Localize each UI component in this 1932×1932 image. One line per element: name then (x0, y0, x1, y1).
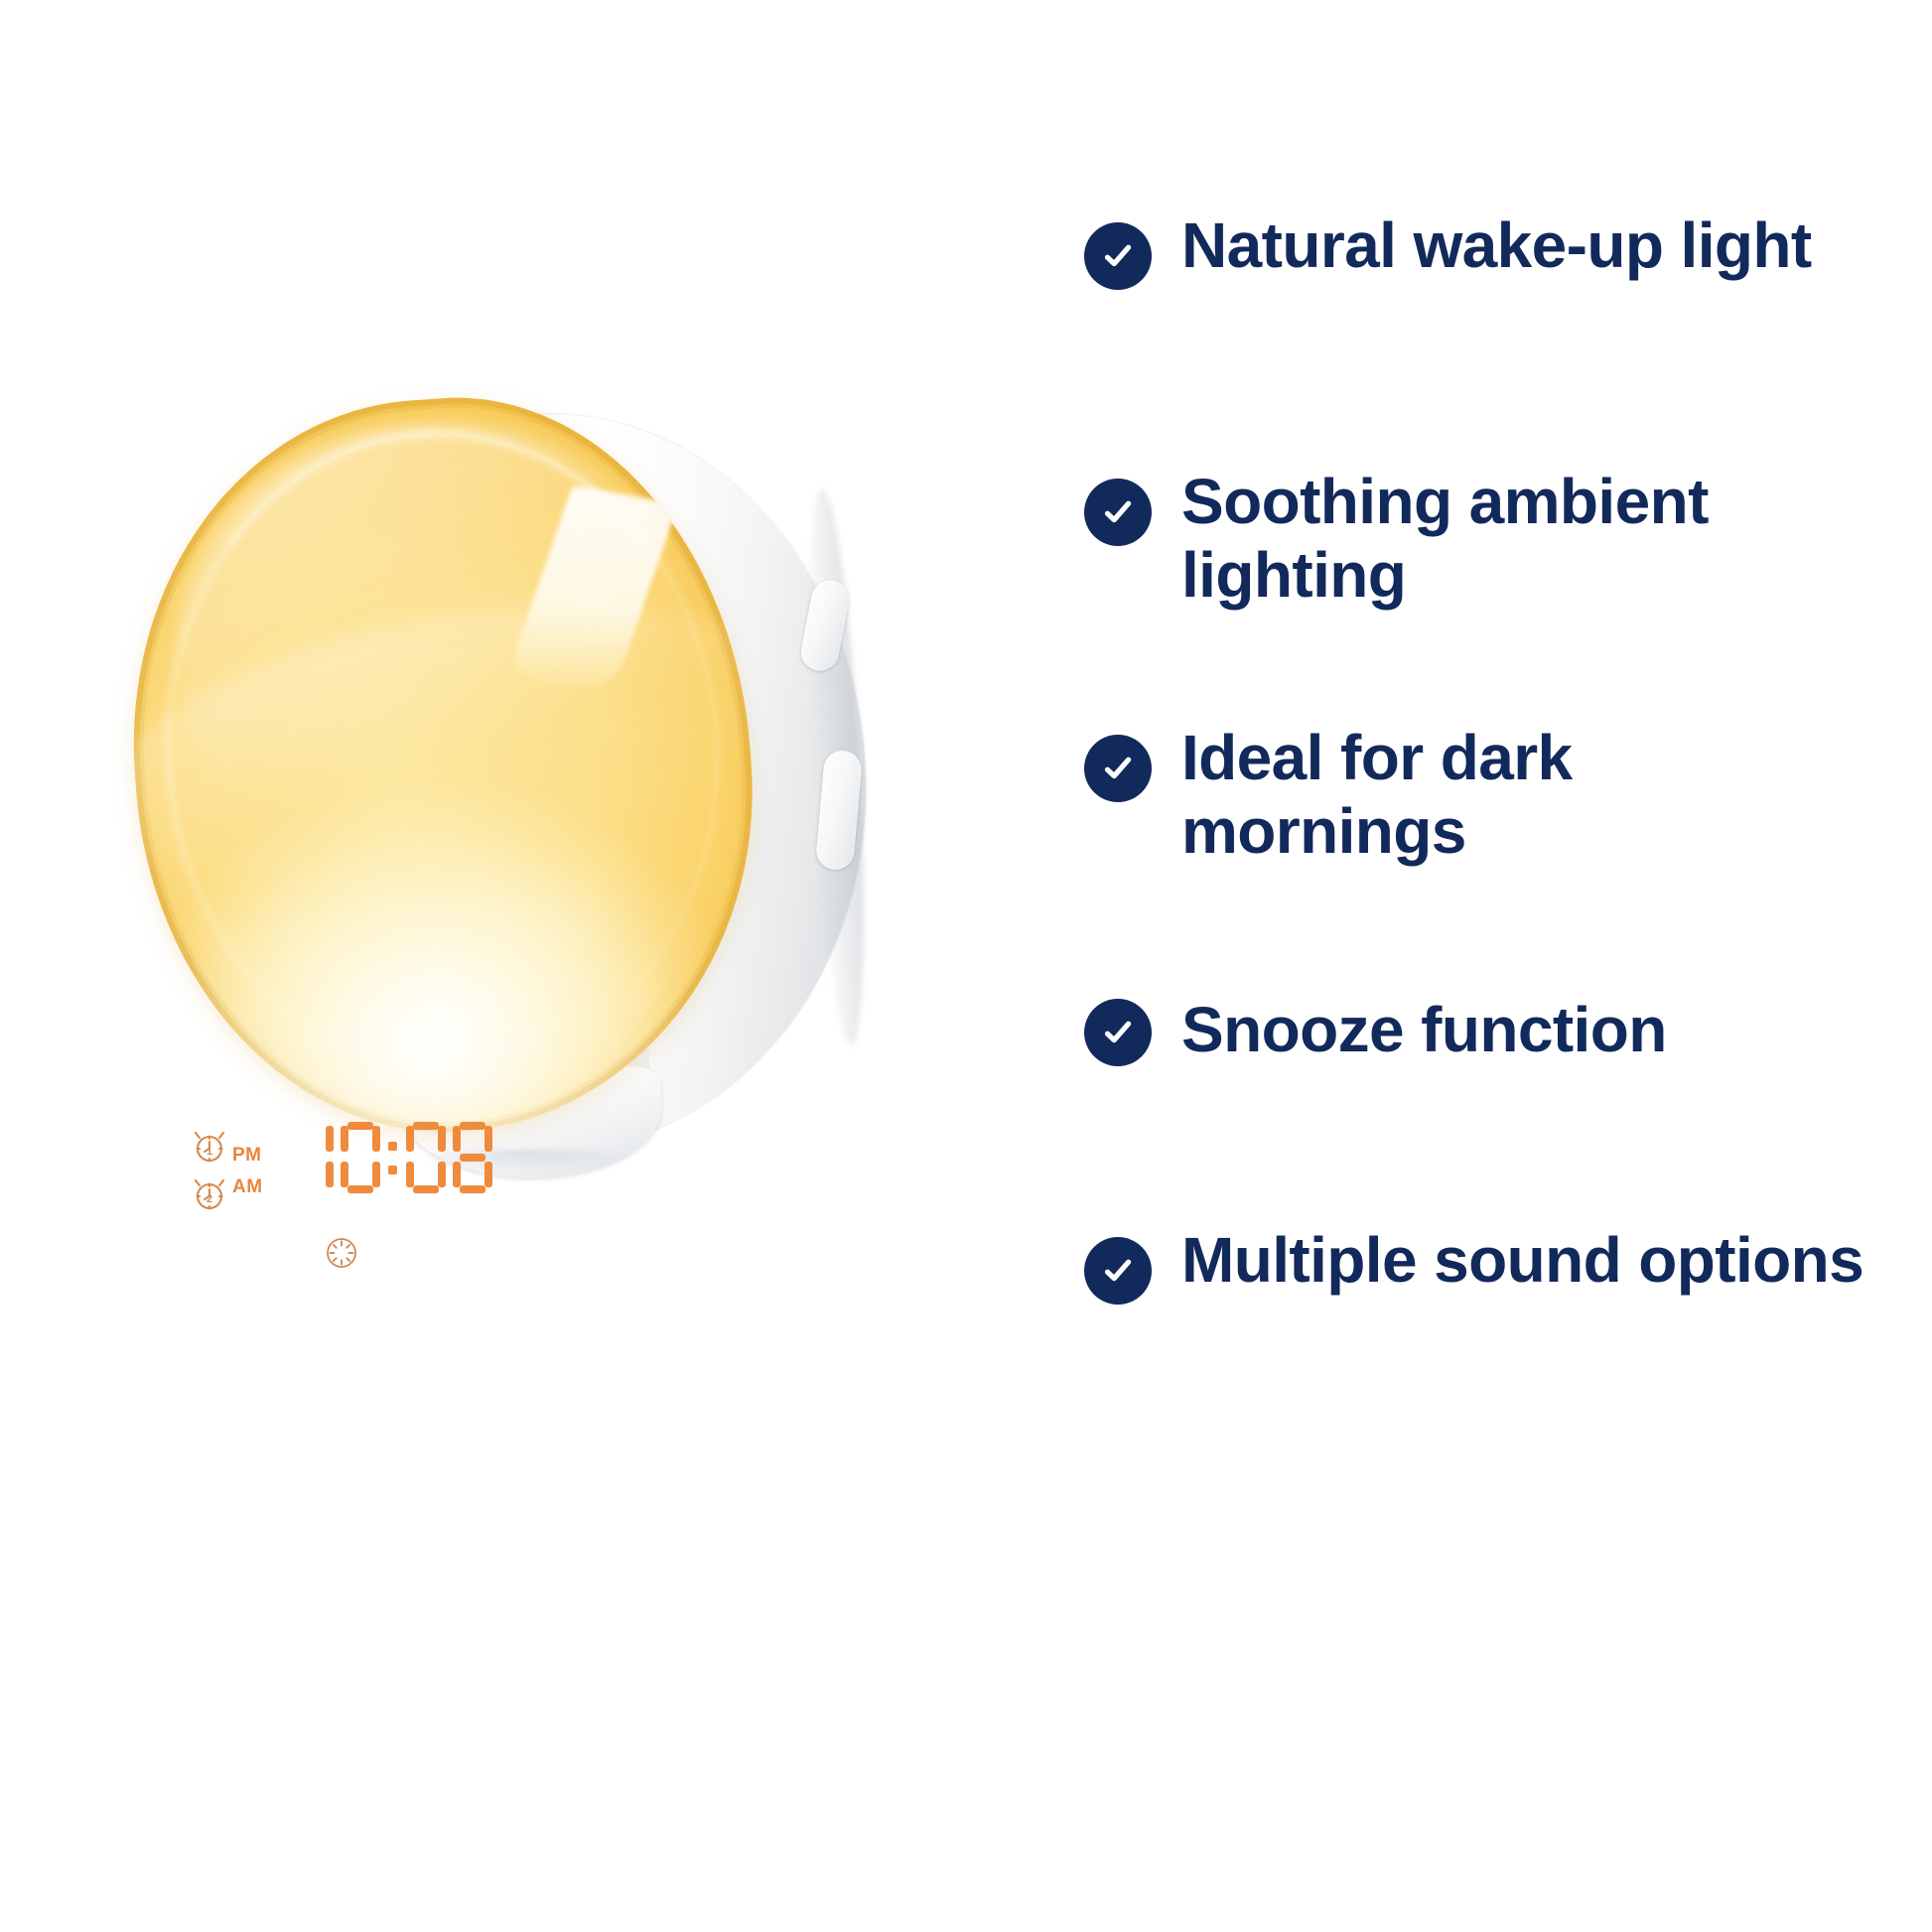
clock-digit-2 (341, 1122, 380, 1193)
alarm-2-row: 2 AM (191, 1175, 286, 1223)
alarm-clock-2-icon: 2 (191, 1175, 228, 1213)
sun-brightness-icon (322, 1233, 361, 1273)
svg-text:1: 1 (207, 1146, 212, 1158)
led-clock-display: 1 PM 2 (191, 1122, 479, 1301)
feature-label: Snooze function (1181, 993, 1667, 1066)
check-icon (1084, 735, 1152, 802)
alarm-1-row: 1 PM (191, 1128, 286, 1175)
feature-item-natural-wake-up-light: Natural wake-up light (1084, 208, 1888, 290)
check-icon (1084, 222, 1152, 290)
feature-item-multiple-sound-options: Multiple sound options (1084, 1223, 1888, 1305)
product-feature-graphic: 1 PM 2 (0, 0, 1932, 1932)
clock-digit-4 (453, 1122, 492, 1193)
sunrise-alarm-clock-product-image: 1 PM 2 (60, 387, 913, 1211)
check-icon (1084, 999, 1152, 1066)
clock-digit-1 (294, 1122, 334, 1193)
alarm-clock-1-icon: 1 (191, 1128, 228, 1166)
alarm-2-meridiem: AM (232, 1177, 263, 1196)
clock-digit-3 (406, 1122, 446, 1193)
feature-item-snooze-function: Snooze function (1084, 993, 1888, 1066)
alarm-indicators: 1 PM 2 (191, 1128, 286, 1223)
feature-label: Ideal for dark mornings (1181, 721, 1866, 868)
feature-item-soothing-ambient-lighting: Soothing ambient lighting (1084, 465, 1888, 612)
feature-label: Soothing ambient lighting (1181, 465, 1866, 612)
feature-label: Multiple sound options (1181, 1223, 1863, 1297)
feature-label: Natural wake-up light (1181, 208, 1812, 282)
feature-item-ideal-for-dark-mornings: Ideal for dark mornings (1084, 721, 1888, 868)
check-icon (1084, 1237, 1152, 1305)
check-icon (1084, 479, 1152, 546)
clock-colon (387, 1122, 399, 1193)
alarm-1-meridiem: PM (232, 1146, 262, 1165)
svg-text:2: 2 (207, 1193, 212, 1205)
clock-time-readout (294, 1122, 492, 1193)
